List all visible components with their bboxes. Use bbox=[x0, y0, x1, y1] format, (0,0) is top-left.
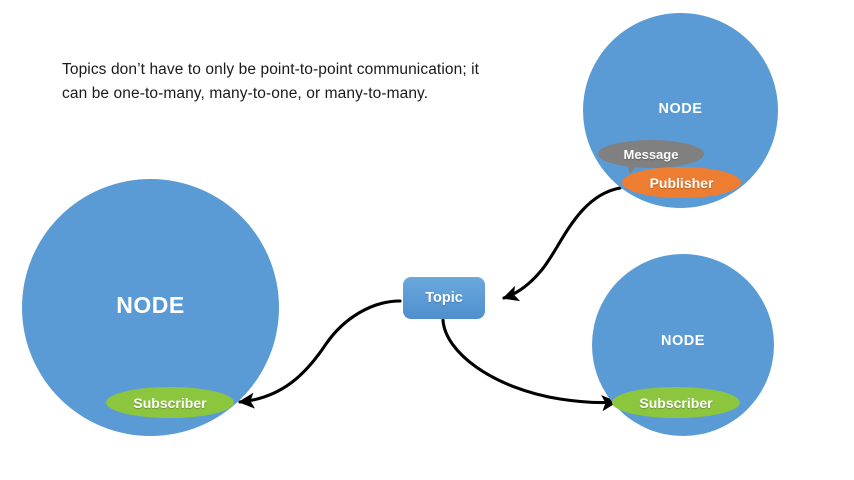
node-left-label: NODE bbox=[22, 292, 279, 319]
subscriber-ellipse-right[interactable]: Subscriber bbox=[612, 387, 740, 418]
topic-box[interactable]: Topic bbox=[403, 277, 485, 319]
arrow-publisher-to-topic bbox=[504, 188, 620, 298]
diagram-canvas: Topics don’t have to only be point-to-po… bbox=[0, 0, 854, 480]
message-ellipse[interactable]: Message bbox=[598, 140, 704, 168]
caption-text: Topics don’t have to only be point-to-po… bbox=[62, 58, 482, 106]
publisher-ellipse[interactable]: Publisher bbox=[622, 167, 741, 198]
subscriber-ellipse-left[interactable]: Subscriber bbox=[106, 387, 234, 418]
arrow-topic-to-subscriber-right bbox=[443, 320, 616, 403]
node-top-right-label: NODE bbox=[583, 101, 778, 117]
node-bottom-right-label: NODE bbox=[592, 333, 774, 349]
